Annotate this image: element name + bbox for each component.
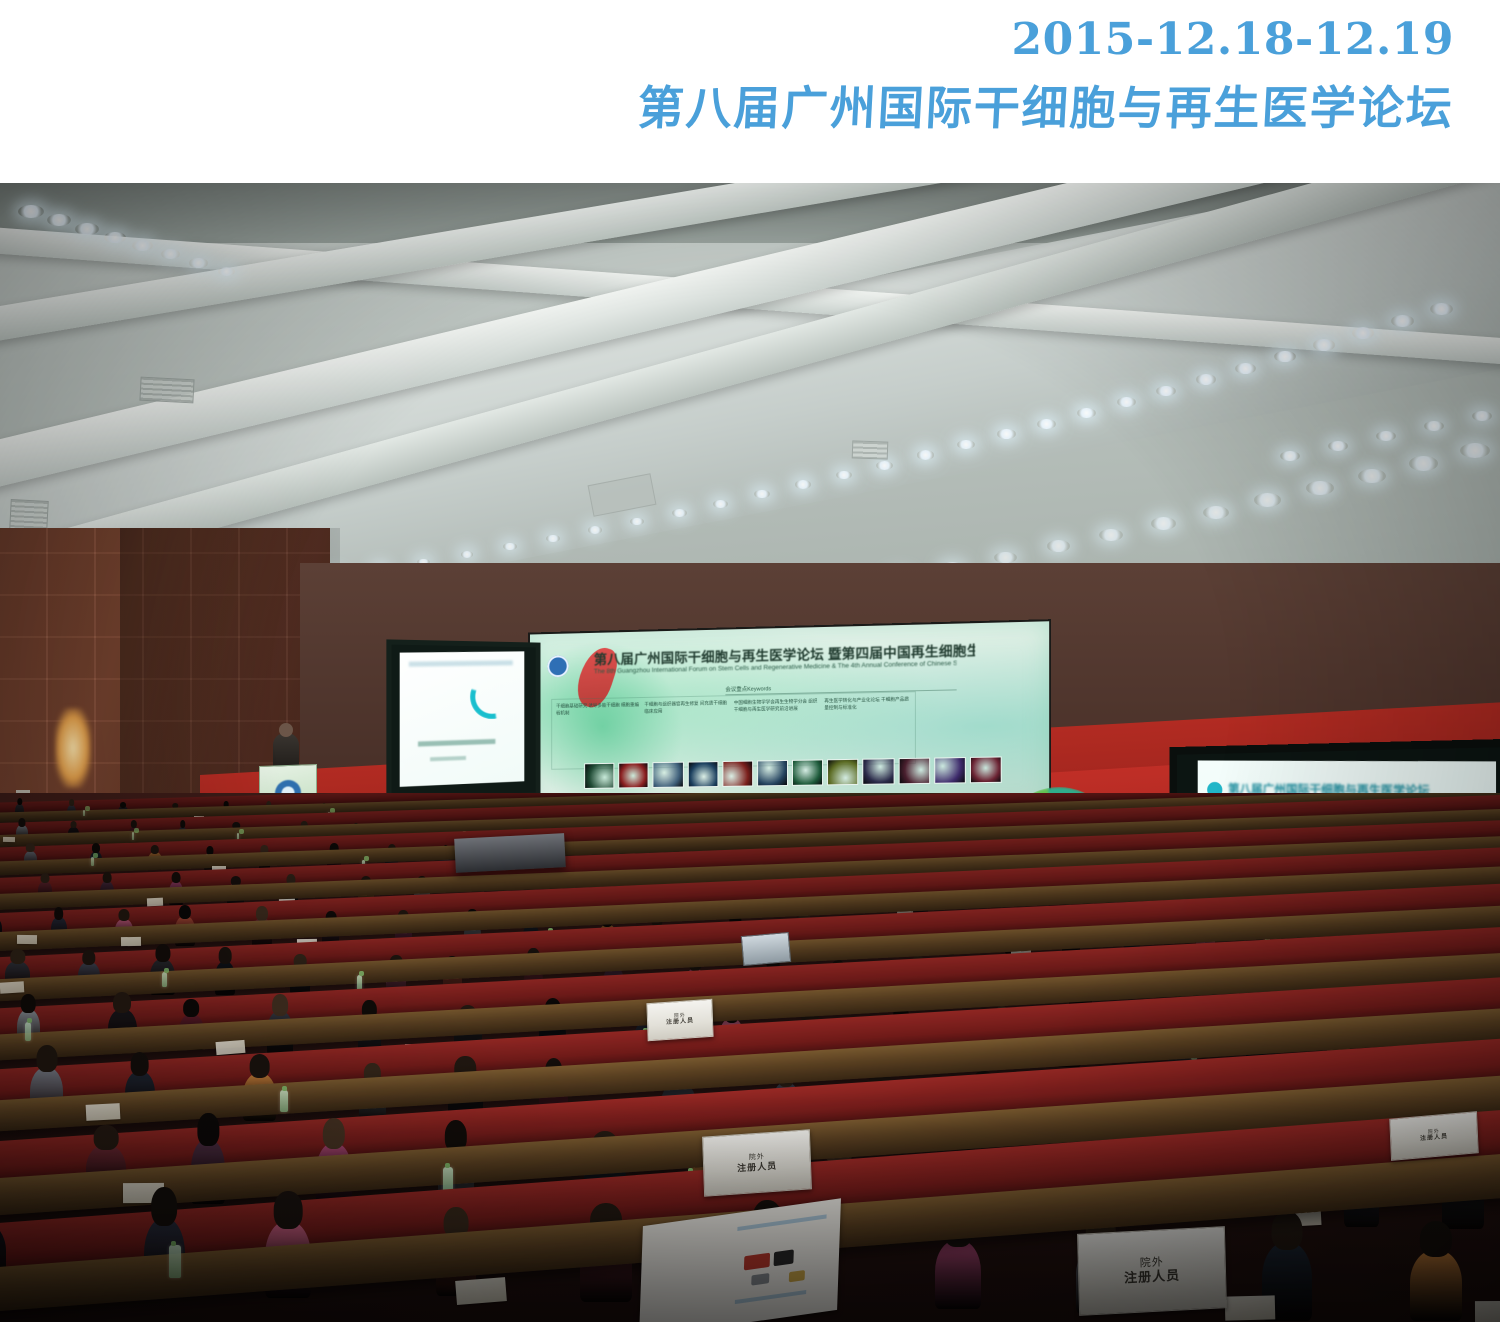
banner-topic-column: 再生医学转化与产业化论坛 干细胞产品质量控制与标准化 [824,696,911,760]
water-bottle [280,1090,288,1112]
attendee-head [151,1187,177,1226]
microscopy-thumbnail [970,756,1002,783]
slide-left-swirl-icon [470,673,515,720]
water-bottle [132,832,135,839]
ceiling-light [75,223,98,235]
ceiling-light [876,461,893,470]
attendee-head [256,906,268,921]
tent-sign-line2: 注册人员 [1124,1268,1180,1286]
page-header: 2015-12.18-12.19 第八届广州国际干细胞与再生医学论坛 [0,0,1500,183]
ceiling-light [588,526,602,534]
ceiling-vent [852,440,889,459]
ceiling-light [1424,421,1444,431]
microscopy-thumbnail [584,763,614,789]
attendee-head [17,798,22,805]
slide-left-text [418,739,495,747]
attendee-head [92,843,100,853]
handout-paper [0,981,24,994]
attendee-head [26,843,34,852]
attendee-head [323,1118,345,1150]
banner-topic-column: 干细胞与组织器官再生修复 间充质干细胞临床应用 [644,700,728,763]
microscopy-thumbnail [827,759,858,786]
attendee-head [172,872,181,884]
attendee-head [249,1054,270,1078]
microscopy-thumbnail [898,758,930,785]
ceiling-light [1196,374,1216,385]
brochure-swatch [774,1249,794,1266]
banner-topic-column: 中国细胞生物学学会再生生物学分会 组织干细胞与再生医学研究前沿进展 [734,698,819,762]
attendee-laptop [741,932,791,966]
ceiling-light [189,258,207,268]
ceiling-light [997,429,1015,439]
attendee-head [131,820,137,828]
attendee-head [36,1045,57,1071]
slide-left [400,651,525,787]
microscopy-thumbnail [618,762,648,788]
ceiling-vent [139,377,194,404]
ceiling-light [1156,386,1176,397]
brochure-bar [735,1290,806,1304]
microscopy-thumbnail [722,761,753,787]
table-tent-sign: 院外注册人员 [1389,1111,1478,1161]
ceiling-light [1391,315,1414,327]
banner-topic-column: 干细胞基础研究 诱导多能干细胞 细胞重编程机制 [556,702,639,765]
ceiling-light [1280,451,1300,461]
banner-microscopy-thumbnails [584,756,1002,789]
table-tent-sign: 院外注册人员 [646,999,713,1042]
water-bottle [91,857,94,866]
ceiling-light [713,500,728,508]
ceiling-light [1352,327,1374,339]
attendee-head [183,999,199,1017]
projection-screen-left [386,639,540,800]
attendee-head [155,944,170,962]
microscopy-thumbnail [934,757,966,784]
slide-left-text-secondary [430,756,466,761]
ceiling-light [1328,441,1348,451]
ceiling-light [546,535,560,542]
water-bottle [162,972,168,987]
ceiling-light [104,232,126,243]
brochure-swatch [751,1273,769,1286]
stage-banner: 第八届广州国际干细胞与再生医学论坛 暨第四届中国再生细胞生物学年会 The 8t… [528,619,1051,818]
handout-paper [147,897,164,905]
av-control-desk [454,833,566,873]
attendee-head [179,905,191,920]
brochure-swatch [744,1253,770,1271]
attendee-head [219,947,232,964]
handout-paper [121,936,141,946]
ceiling-light [1313,339,1335,350]
attendee-head [69,799,75,806]
seated-attendee [1410,1250,1462,1321]
page-footer-strip [0,1322,1500,1328]
ceiling-light [1203,506,1229,519]
ceiling-light [218,267,235,276]
header-title: 第八届广州国际干细胞与再生医学论坛 [636,72,1455,138]
attendee-head [180,820,186,828]
ceiling-light [1235,363,1256,374]
handout-paper [17,935,37,945]
ceiling-light [1409,456,1438,471]
microscopy-thumbnail [792,759,823,786]
attendee-head [21,994,36,1014]
attendee-head [118,909,129,921]
table-tent-sign: 院外注册人员 [702,1129,812,1197]
ceiling-vent [9,499,49,531]
handout-paper [455,1277,507,1305]
ceiling-light [917,450,934,459]
attendee-head [19,818,26,827]
attendee-head [70,821,77,828]
attendee-head [120,802,126,808]
ceiling-light [1430,303,1453,315]
ceiling-light [18,205,44,218]
ceiling-light [503,543,516,550]
brochure-swatch [789,1270,805,1282]
ceiling-light [994,552,1017,564]
attendee-head [274,1191,303,1229]
ceiling-light [1358,469,1386,483]
slide-left-title-bar [409,660,513,666]
microscopy-thumbnail [863,758,895,785]
attendee-head [1420,1221,1452,1257]
attendee-head [113,992,131,1013]
microscopy-thumbnail [687,761,718,787]
handout-paper [85,1103,120,1121]
ceiling-light [1472,411,1492,421]
attendee-head [94,1125,119,1150]
attendee-head [130,1052,149,1076]
handout-paper [215,1039,245,1055]
ceiling-light [1306,481,1334,495]
microscopy-thumbnail [653,762,684,788]
brochure-bar [737,1214,826,1231]
handout-paper [1475,1301,1500,1322]
microscopy-thumbnail [757,760,788,786]
attendee-head [198,1113,219,1146]
ceiling-light [1460,443,1490,458]
ceiling-light [1376,431,1396,441]
table-tent-sign: 院外注册人员 [1077,1226,1227,1316]
seated-attendee [935,1240,981,1309]
conference-photo: 第八届广州国际干细胞与再生医学论坛 暨第四届中国再生细胞生物学年会 The 8t… [0,183,1500,1322]
water-bottle [169,1245,181,1278]
attendee-head [151,845,159,854]
attendee-head [54,907,64,920]
attendee-head [41,873,50,883]
handout-paper [1225,1295,1276,1320]
water-bottle [25,1022,32,1040]
attendee-head [272,994,288,1016]
ceiling-light [1274,351,1295,362]
page-root: 2015-12.18-12.19 第八届广州国际干细胞与再生医学论坛 [0,0,1500,1328]
wall-light-glow [55,708,91,788]
tent-sign-line2: 注册人员 [1420,1134,1448,1143]
ceiling-light [672,509,687,517]
attendee-head [82,950,95,965]
attendee-head [10,949,25,964]
speaker-head [279,723,293,737]
attendee-head [103,872,112,883]
tent-sign-line2: 注册人员 [737,1160,777,1173]
attendee-head [1272,1211,1303,1250]
water-bottle [83,810,85,816]
tent-sign-line2: 注册人员 [666,1018,694,1027]
ceiling-light [1077,408,1096,418]
header-date: 2015-12.18-12.19 [1011,14,1454,65]
handout-paper [3,837,15,843]
ceiling-light [1037,419,1056,429]
